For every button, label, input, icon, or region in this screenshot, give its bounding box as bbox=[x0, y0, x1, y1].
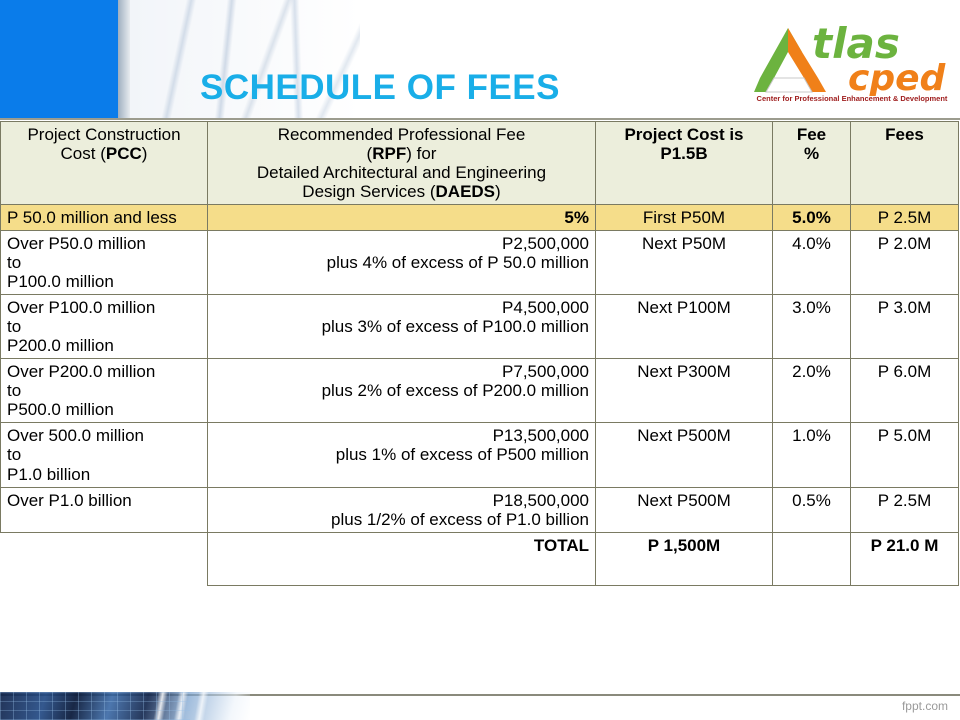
cell-fees: P 6.0M bbox=[851, 359, 959, 423]
header-rpf-line4-post: ) bbox=[495, 182, 501, 201]
cell-recommended-professional-fee: P4,500,000plus 3% of excess of P100.0 mi… bbox=[208, 295, 596, 359]
cell-project-construction-cost: Over P1.0 billion bbox=[1, 487, 208, 532]
page-title: SCHEDULE OF FEES bbox=[200, 68, 560, 108]
cell-project-cost-tranche: Next P500M bbox=[596, 487, 773, 532]
logo-mark: tlas cped bbox=[752, 14, 952, 96]
cell-fees: P 2.5M bbox=[851, 205, 959, 231]
atlas-cped-logo: tlas cped Center for Professional Enhanc… bbox=[752, 14, 952, 112]
header-project-cost-line2: P1.5B bbox=[660, 144, 707, 163]
rpf-excess-formula: plus 4% of excess of P 50.0 million bbox=[214, 253, 589, 272]
header-pcc-line2-post: ) bbox=[142, 144, 148, 163]
header-rpf-line2-post: ) for bbox=[406, 144, 436, 163]
rpf-amount: 5% bbox=[214, 208, 589, 227]
rpf-excess-formula: plus 1/2% of excess of P1.0 billion bbox=[214, 510, 589, 529]
table-row: Over P200.0 milliontoP500.0 millionP7,50… bbox=[1, 359, 959, 423]
total-empty-pcc bbox=[1, 532, 208, 585]
header-pcc-line1: Project Construction bbox=[27, 125, 180, 144]
cell-fee-percent: 0.5% bbox=[773, 487, 851, 532]
table-row: P 50.0 million and less5%First P50M5.0%P… bbox=[1, 205, 959, 231]
cell-project-cost-tranche: Next P500M bbox=[596, 423, 773, 487]
total-label: TOTAL bbox=[208, 532, 596, 585]
header-blue-accent-bar bbox=[0, 0, 118, 120]
header-project-cost-line1: Project Cost is bbox=[624, 125, 743, 144]
header-cell-rpf: Recommended Professional Fee (RPF) for D… bbox=[208, 122, 596, 205]
rpf-excess-formula: plus 2% of excess of P200.0 million bbox=[214, 381, 589, 400]
rpf-amount: P7,500,000 bbox=[214, 362, 589, 381]
cell-fees: P 2.5M bbox=[851, 487, 959, 532]
footer-building-grid bbox=[0, 692, 190, 720]
header-cell-project-cost: Project Cost is P1.5B bbox=[596, 122, 773, 205]
watermark-label: fppt.com bbox=[902, 699, 948, 713]
table-row: Over 500.0 milliontoP1.0 billionP13,500,… bbox=[1, 423, 959, 487]
rpf-excess-formula: plus 3% of excess of P100.0 million bbox=[214, 317, 589, 336]
cell-project-cost-tranche: Next P300M bbox=[596, 359, 773, 423]
rpf-amount: P18,500,000 bbox=[214, 491, 589, 510]
header-rpf-abbr: RPF bbox=[372, 144, 406, 163]
header-cell-fees: Fees bbox=[851, 122, 959, 205]
header-cell-fee-percent: Fee % bbox=[773, 122, 851, 205]
svg-text:cped: cped bbox=[848, 58, 947, 96]
cell-fees: P 3.0M bbox=[851, 295, 959, 359]
total-project-cost: P 1,500M bbox=[596, 532, 773, 585]
cell-recommended-professional-fee: P2,500,000plus 4% of excess of P 50.0 mi… bbox=[208, 231, 596, 295]
header-pcc-abbr: PCC bbox=[106, 144, 142, 163]
cell-project-cost-tranche: Next P50M bbox=[596, 231, 773, 295]
cell-fee-percent: 1.0% bbox=[773, 423, 851, 487]
cell-fee-percent: 4.0% bbox=[773, 231, 851, 295]
header-pcc-line2-pre: Cost ( bbox=[61, 144, 106, 163]
cell-fee-percent: 2.0% bbox=[773, 359, 851, 423]
total-fees: P 21.0 M bbox=[851, 532, 959, 585]
header-daeds-abbr: DAEDS bbox=[436, 182, 496, 201]
rpf-excess-formula: plus 1% of excess of P500 million bbox=[214, 445, 589, 464]
total-fee-percent bbox=[773, 532, 851, 585]
header-cell-pcc: Project Construction Cost (PCC) bbox=[1, 122, 208, 205]
cell-project-cost-tranche: Next P100M bbox=[596, 295, 773, 359]
table-row: Over P1.0 billionP18,500,000plus 1/2% of… bbox=[1, 487, 959, 532]
slide-canvas: SCHEDULE OF FEES tlas cped Center for Pr… bbox=[0, 0, 960, 720]
table-row: Over P50.0 milliontoP100.0 millionP2,500… bbox=[1, 231, 959, 295]
cell-fee-percent: 3.0% bbox=[773, 295, 851, 359]
header-rpf-line4-pre: Design Services ( bbox=[302, 182, 435, 201]
cell-recommended-professional-fee: 5% bbox=[208, 205, 596, 231]
cell-fees: P 2.0M bbox=[851, 231, 959, 295]
cell-project-construction-cost: Over P50.0 milliontoP100.0 million bbox=[1, 231, 208, 295]
table-row: Over P100.0 milliontoP200.0 millionP4,50… bbox=[1, 295, 959, 359]
header-divider bbox=[0, 118, 960, 120]
footer-building-image bbox=[0, 692, 250, 720]
rpf-amount: P4,500,000 bbox=[214, 298, 589, 317]
rpf-amount: P2,500,000 bbox=[214, 234, 589, 253]
cell-fee-percent: 5.0% bbox=[773, 205, 851, 231]
cell-recommended-professional-fee: P18,500,000plus 1/2% of excess of P1.0 b… bbox=[208, 487, 596, 532]
header-fee-line2: % bbox=[804, 144, 819, 163]
header-fee-line1: Fee bbox=[797, 125, 826, 144]
cell-fees: P 5.0M bbox=[851, 423, 959, 487]
cell-recommended-professional-fee: P7,500,000plus 2% of excess of P200.0 mi… bbox=[208, 359, 596, 423]
logo-tagline: Center for Professional Enhancement & De… bbox=[752, 94, 952, 103]
table-total-row: TOTAL P 1,500M P 21.0 M bbox=[1, 532, 959, 585]
header-rpf-line3: Detailed Architectural and Engineering bbox=[257, 163, 546, 182]
rpf-amount: P13,500,000 bbox=[214, 426, 589, 445]
cell-project-construction-cost: Over P100.0 milliontoP200.0 million bbox=[1, 295, 208, 359]
table-header-row: Project Construction Cost (PCC) Recommen… bbox=[1, 122, 959, 205]
cell-recommended-professional-fee: P13,500,000plus 1% of excess of P500 mil… bbox=[208, 423, 596, 487]
header-rpf-line1: Recommended Professional Fee bbox=[278, 125, 526, 144]
cell-project-construction-cost: Over P200.0 milliontoP500.0 million bbox=[1, 359, 208, 423]
schedule-of-fees-table: Project Construction Cost (PCC) Recommen… bbox=[0, 121, 959, 586]
cell-project-construction-cost: P 50.0 million and less bbox=[1, 205, 208, 231]
cell-project-construction-cost: Over 500.0 milliontoP1.0 billion bbox=[1, 423, 208, 487]
cell-project-cost-tranche: First P50M bbox=[596, 205, 773, 231]
